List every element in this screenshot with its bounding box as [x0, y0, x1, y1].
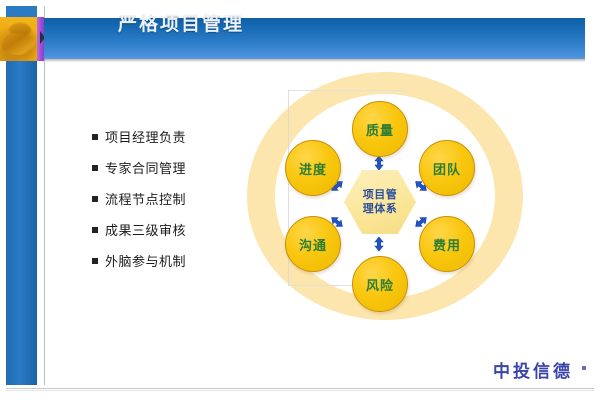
- node-cost[interactable]: 费用: [419, 216, 475, 272]
- node-schedule-label: 进度: [299, 159, 327, 178]
- footer-dot-icon: [582, 366, 586, 370]
- content-left-rule: [44, 6, 45, 385]
- title-banner-shadow: [44, 59, 585, 62]
- bullet-list: 项目经理负责 专家合同管理 流程节点控制 成果三级审核 外脑参与机制: [92, 127, 232, 282]
- node-team-label: 团队: [433, 159, 461, 178]
- node-communication-label: 沟通: [299, 235, 327, 254]
- list-item: 成果三级审核: [92, 220, 232, 239]
- node-cost-label: 费用: [433, 235, 461, 254]
- square-bullet-icon: [92, 134, 98, 140]
- project-management-diagram: 项目管 理体系 质量 团队 费用 风险 沟通 进度: [241, 68, 531, 324]
- node-quality[interactable]: 质量: [352, 101, 408, 157]
- node-risk[interactable]: 风险: [352, 256, 408, 312]
- list-item: 流程节点控制: [92, 189, 232, 208]
- square-bullet-icon: [92, 165, 98, 171]
- page-title: 严格项目管理: [118, 9, 244, 36]
- square-bullet-icon: [92, 227, 98, 233]
- bullet-label: 项目经理负责: [105, 127, 186, 146]
- footer-company-logo: 中投信德: [493, 357, 573, 382]
- node-risk-label: 风险: [366, 275, 394, 294]
- footer-rule: [6, 388, 594, 389]
- slide-canvas: 严格项目管理 项目经理负责 专家合同管理 流程节点控制 成果三级审核 外脑参与机…: [0, 0, 600, 400]
- list-item: 专家合同管理: [92, 158, 232, 177]
- square-bullet-icon: [92, 258, 98, 264]
- node-quality-label: 质量: [366, 120, 394, 139]
- purple-accent-strip: [37, 17, 44, 61]
- bullet-label: 专家合同管理: [105, 158, 186, 177]
- node-schedule[interactable]: 进度: [285, 140, 341, 196]
- handshake-lower-shape: [2, 33, 35, 55]
- footer-rule-secondary: [6, 390, 594, 391]
- list-item: 外脑参与机制: [92, 251, 232, 270]
- left-blue-sidebar: [6, 6, 37, 385]
- handshake-logo-image: [0, 17, 37, 61]
- node-communication[interactable]: 沟通: [285, 216, 341, 272]
- bullet-label: 外脑参与机制: [105, 251, 186, 270]
- node-team[interactable]: 团队: [419, 140, 475, 196]
- list-item: 项目经理负责: [92, 127, 232, 146]
- center-label-line1: 项目管: [363, 188, 398, 202]
- bullet-label: 流程节点控制: [105, 189, 186, 208]
- center-hexagon-label: 项目管 理体系: [363, 188, 398, 216]
- center-label-line2: 理体系: [363, 202, 398, 216]
- bullet-label: 成果三级审核: [105, 220, 186, 239]
- square-bullet-icon: [92, 196, 98, 202]
